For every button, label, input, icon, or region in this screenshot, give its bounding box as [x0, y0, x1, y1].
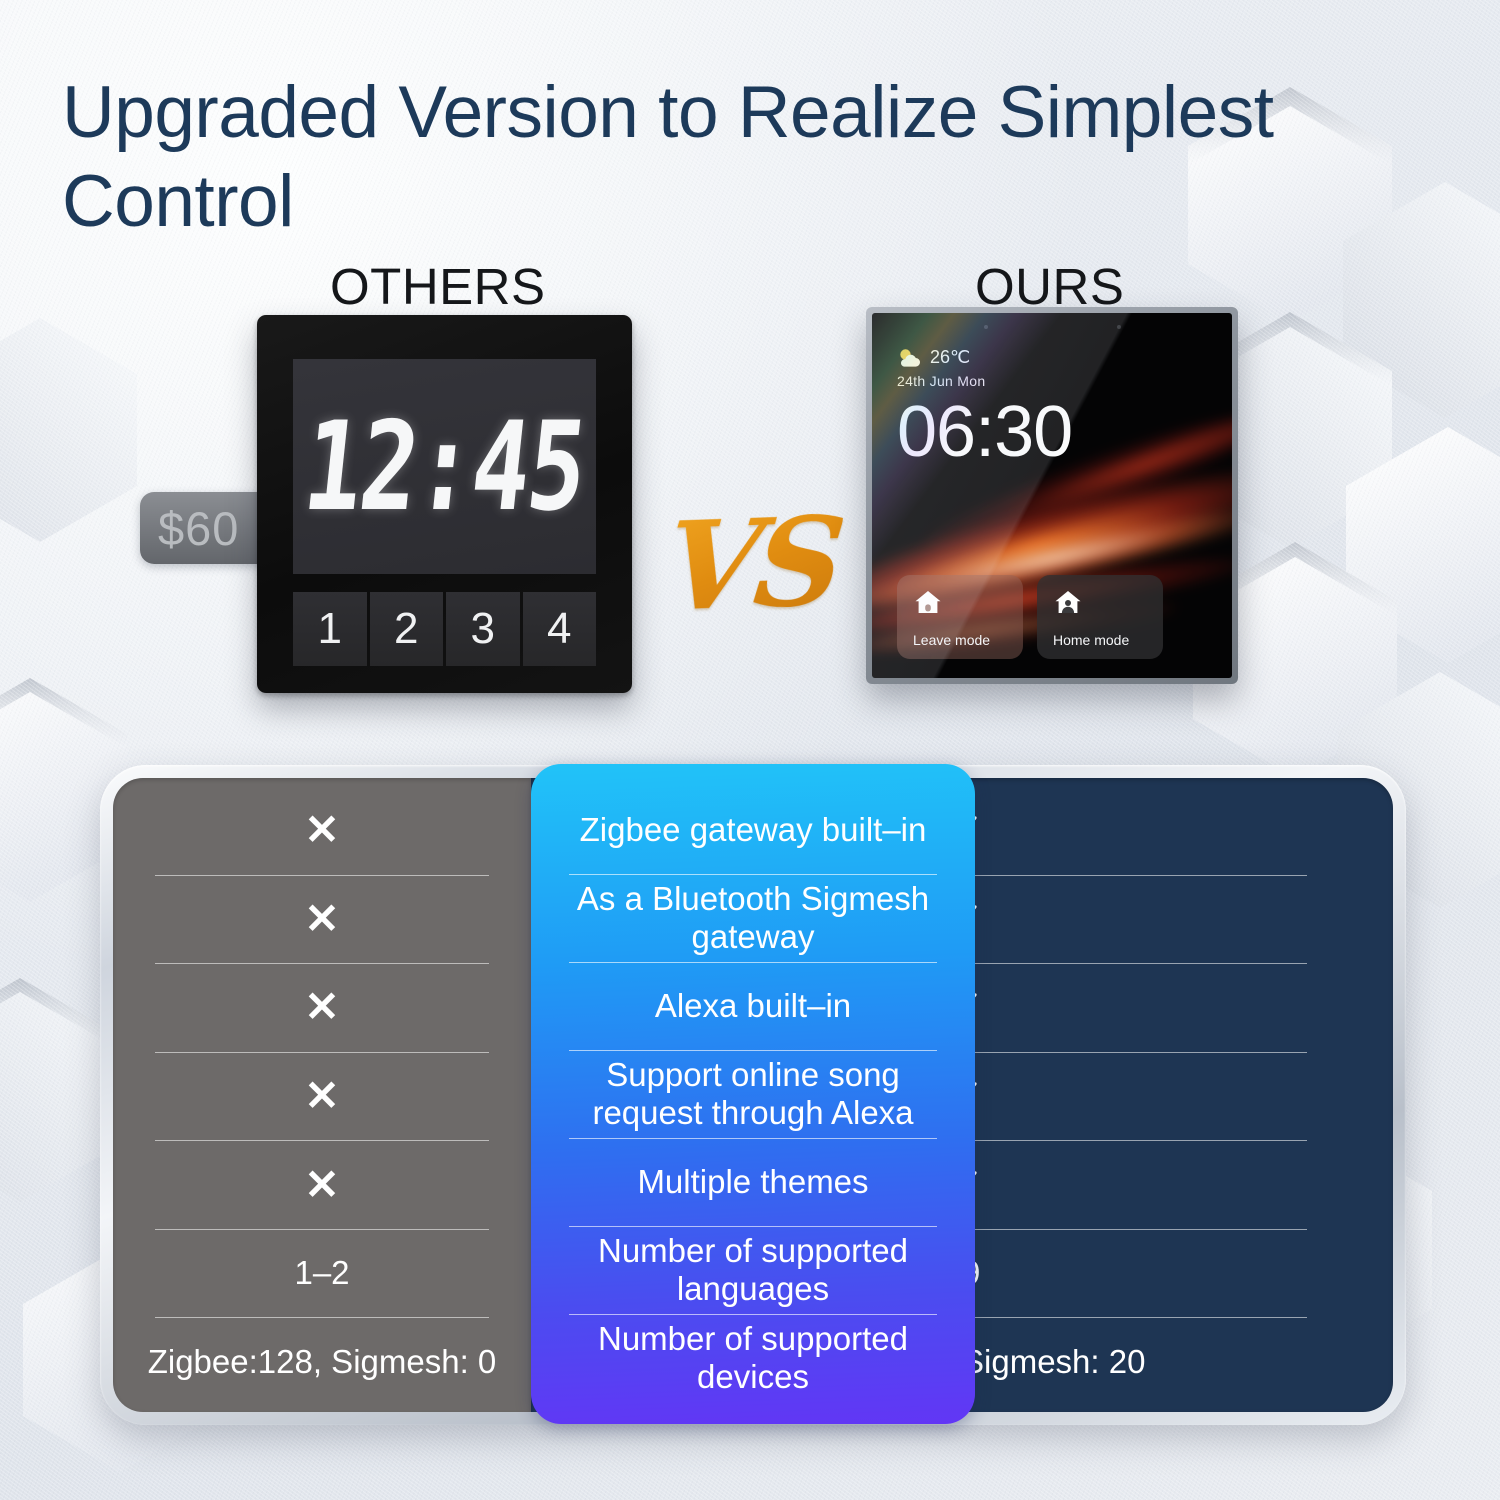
- device-button-1[interactable]: 1: [293, 592, 367, 666]
- device-others: 12:45 1 2 3 4: [257, 315, 632, 693]
- feature-label: Number of supported languages: [553, 1232, 953, 1307]
- page-title: Upgraded Version to Realize Simplest Con…: [62, 68, 1462, 246]
- column-caption-others: OTHERS: [330, 257, 546, 316]
- weather-date: 24th Jun Mon: [897, 373, 1214, 389]
- feature-label: As a Bluetooth Sigmesh gateway: [553, 880, 953, 955]
- screen-clock-time: 06:30: [897, 395, 1214, 471]
- feature-label: Alexa built–in: [651, 987, 855, 1025]
- mode-shortcut-row: Leave mode Home mode: [897, 575, 1163, 659]
- device-button-3[interactable]: 3: [446, 592, 520, 666]
- table-row: ✕: [113, 786, 531, 875]
- cross-icon: ✕: [304, 986, 339, 1028]
- comparison-table: ✕✕✕✕✕1–2Zigbee:128, Sigmesh: 0 ✔✔✔✔✔19Zi…: [113, 778, 1393, 1412]
- table-row: ✕: [113, 1052, 531, 1141]
- leave-mode-label: Leave mode: [913, 632, 1023, 648]
- table-row: Number of supported devices: [553, 1314, 953, 1402]
- cell-value: Zigbee:128, Sigmesh: 0: [148, 1343, 497, 1381]
- weather-widget: 26℃: [897, 347, 1214, 368]
- camera-dot-right: [1117, 325, 1121, 329]
- table-row: ✕: [113, 875, 531, 964]
- device-ours: 26℃ 24th Jun Mon 06:30 Leave mode: [866, 307, 1238, 684]
- home-mode-button[interactable]: Home mode: [1037, 575, 1163, 659]
- smart-panel-screen[interactable]: 26℃ 24th Jun Mon 06:30 Leave mode: [872, 313, 1232, 678]
- house-icon: [913, 588, 943, 616]
- comparison-column-others: ✕✕✕✕✕1–2Zigbee:128, Sigmesh: 0: [113, 778, 531, 1412]
- device-button-4[interactable]: 4: [523, 592, 597, 666]
- lcd-time-value: 12:45: [297, 395, 591, 538]
- cross-icon: ✕: [304, 898, 339, 940]
- feature-label: Number of supported devices: [553, 1320, 953, 1395]
- home-mode-label: Home mode: [1053, 632, 1163, 648]
- table-row: Alexa built–in: [553, 962, 953, 1050]
- lcd-display: 12:45: [293, 359, 596, 574]
- cell-value: 1–2: [294, 1254, 349, 1292]
- camera-dot-left: [984, 325, 988, 329]
- sun-behind-cloud-icon: [897, 348, 923, 368]
- feature-label: Support online song request through Alex…: [553, 1056, 953, 1131]
- comparison-table-frame: ✕✕✕✕✕1–2Zigbee:128, Sigmesh: 0 ✔✔✔✔✔19Zi…: [100, 765, 1406, 1425]
- feature-label: Multiple themes: [633, 1163, 872, 1201]
- weather-temperature: 26℃: [930, 347, 970, 368]
- versus-label: VS: [659, 489, 846, 639]
- cross-icon: ✕: [304, 809, 339, 851]
- table-row: Number of supported languages: [553, 1226, 953, 1314]
- table-row: ✕: [113, 1140, 531, 1229]
- table-row: Zigbee gateway built–in: [553, 786, 953, 874]
- feature-label: Zigbee gateway built–in: [576, 811, 931, 849]
- cross-icon: ✕: [304, 1075, 339, 1117]
- device-button-2[interactable]: 2: [370, 592, 444, 666]
- house-person-icon: [1053, 588, 1083, 616]
- physical-button-row: 1 2 3 4: [293, 592, 596, 666]
- versus-badge: VS: [672, 484, 832, 644]
- table-row: 1–2: [113, 1229, 531, 1318]
- table-row: Support online song request through Alex…: [553, 1050, 953, 1138]
- table-row: As a Bluetooth Sigmesh gateway: [553, 874, 953, 962]
- table-row: Zigbee:128, Sigmesh: 0: [113, 1317, 531, 1406]
- comparison-column-features: Zigbee gateway built–inAs a Bluetooth Si…: [531, 764, 975, 1424]
- cross-icon: ✕: [304, 1164, 339, 1206]
- leave-mode-button[interactable]: Leave mode: [897, 575, 1023, 659]
- table-row: Multiple themes: [553, 1138, 953, 1226]
- table-row: ✕: [113, 963, 531, 1052]
